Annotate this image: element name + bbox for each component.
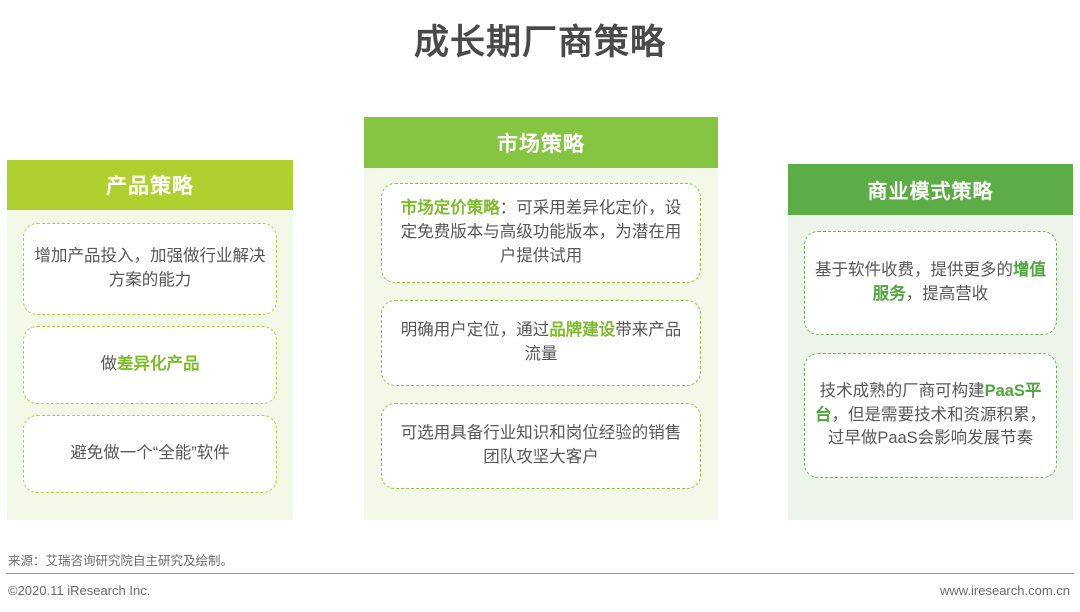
- business-card-2: 技术成熟的厂商可构建PaaS平台，但是需要技术和资源积累，过早做PaaS会影响发…: [804, 353, 1057, 478]
- market-card-2-highlight: 品牌建设: [549, 321, 615, 339]
- market-card-1-text: 市场定价策略：可采用差异化定价，设定免费版本与高级功能版本，为潜在用户提供试用: [394, 197, 688, 269]
- product-card-1-post: 增加产品投入，加强做行业解决方案的能力: [35, 247, 266, 289]
- panel-business-header: 商业模式策略: [788, 164, 1073, 215]
- market-card-2-text: 明确用户定位，通过品牌建设带来产品流量: [394, 319, 688, 367]
- panel-product-header: 产品策略: [7, 160, 293, 210]
- business-card-1-pre: 基于软件收费，提供更多的: [815, 261, 1013, 279]
- market-card-2-pre: 明确用户定位，通过: [401, 321, 550, 339]
- footer-divider: [6, 573, 1074, 574]
- product-card-1: 增加产品投入，加强做行业解决方案的能力: [23, 223, 277, 315]
- market-card-1-highlight: 市场定价策略: [401, 199, 500, 217]
- market-card-3-post: 可选用具备行业知识和岗位经验的销售团队攻坚大客户: [401, 424, 682, 466]
- source-note: 来源：艾瑞咨询研究院自主研究及绘制。: [8, 550, 233, 569]
- panel-market-strategy: 市场策略 市场定价策略：可采用差异化定价，设定免费版本与高级功能版本，为潜在用户…: [364, 117, 718, 520]
- business-card-1-post: ，提高营收: [906, 285, 989, 303]
- product-card-2-text: 做差异化产品: [101, 353, 200, 377]
- business-card-1-text: 基于软件收费，提供更多的增值服务，提高营收: [815, 259, 1046, 307]
- copyright-text: ©2020.11 iResearch Inc.: [8, 583, 150, 598]
- panel-business-model-strategy: 商业模式策略 基于软件收费，提供更多的增值服务，提高营收 技术成熟的厂商可构建P…: [788, 164, 1073, 520]
- product-card-3-text: 避免做一个“全能”软件: [70, 442, 230, 466]
- panel-product-body: 增加产品投入，加强做行业解决方案的能力 做差异化产品 避免做一个“全能”软件: [7, 210, 293, 520]
- business-card-2-text: 技术成熟的厂商可构建PaaS平台，但是需要技术和资源积累，过早做PaaS会影响发…: [815, 380, 1046, 452]
- market-card-3: 可选用具备行业知识和岗位经验的销售团队攻坚大客户: [381, 403, 701, 489]
- panel-business-body: 基于软件收费，提供更多的增值服务，提高营收 技术成熟的厂商可构建PaaS平台，但…: [788, 215, 1073, 520]
- market-card-3-text: 可选用具备行业知识和岗位经验的销售团队攻坚大客户: [394, 422, 688, 470]
- product-card-3-post: 避免做一个“全能”软件: [70, 444, 230, 462]
- product-card-2-pre: 做: [101, 355, 118, 373]
- business-card-2-pre: 技术成熟的厂商可构建: [820, 382, 985, 400]
- product-card-1-text: 增加产品投入，加强做行业解决方案的能力: [34, 245, 266, 293]
- panel-market-header: 市场策略: [364, 117, 718, 168]
- product-card-2-highlight: 差异化产品: [117, 355, 200, 373]
- product-card-3: 避免做一个“全能”软件: [23, 415, 277, 493]
- page-title: 成长期厂商策略: [0, 14, 1080, 65]
- panel-market-body: 市场定价策略：可采用差异化定价，设定免费版本与高级功能版本，为潜在用户提供试用 …: [364, 168, 718, 520]
- market-card-2: 明确用户定位，通过品牌建设带来产品流量: [381, 300, 701, 386]
- product-card-2: 做差异化产品: [23, 326, 277, 404]
- business-card-1: 基于软件收费，提供更多的增值服务，提高营收: [804, 231, 1057, 335]
- market-card-1: 市场定价策略：可采用差异化定价，设定免费版本与高级功能版本，为潜在用户提供试用: [381, 183, 701, 283]
- website-url: www.iresearch.com.cn: [940, 583, 1070, 598]
- panel-product-strategy: 产品策略 增加产品投入，加强做行业解决方案的能力 做差异化产品 避免做一个“全能…: [7, 160, 293, 520]
- business-card-2-post: ，但是需要技术和资源积累，过早做PaaS会影响发展节奏: [828, 406, 1046, 448]
